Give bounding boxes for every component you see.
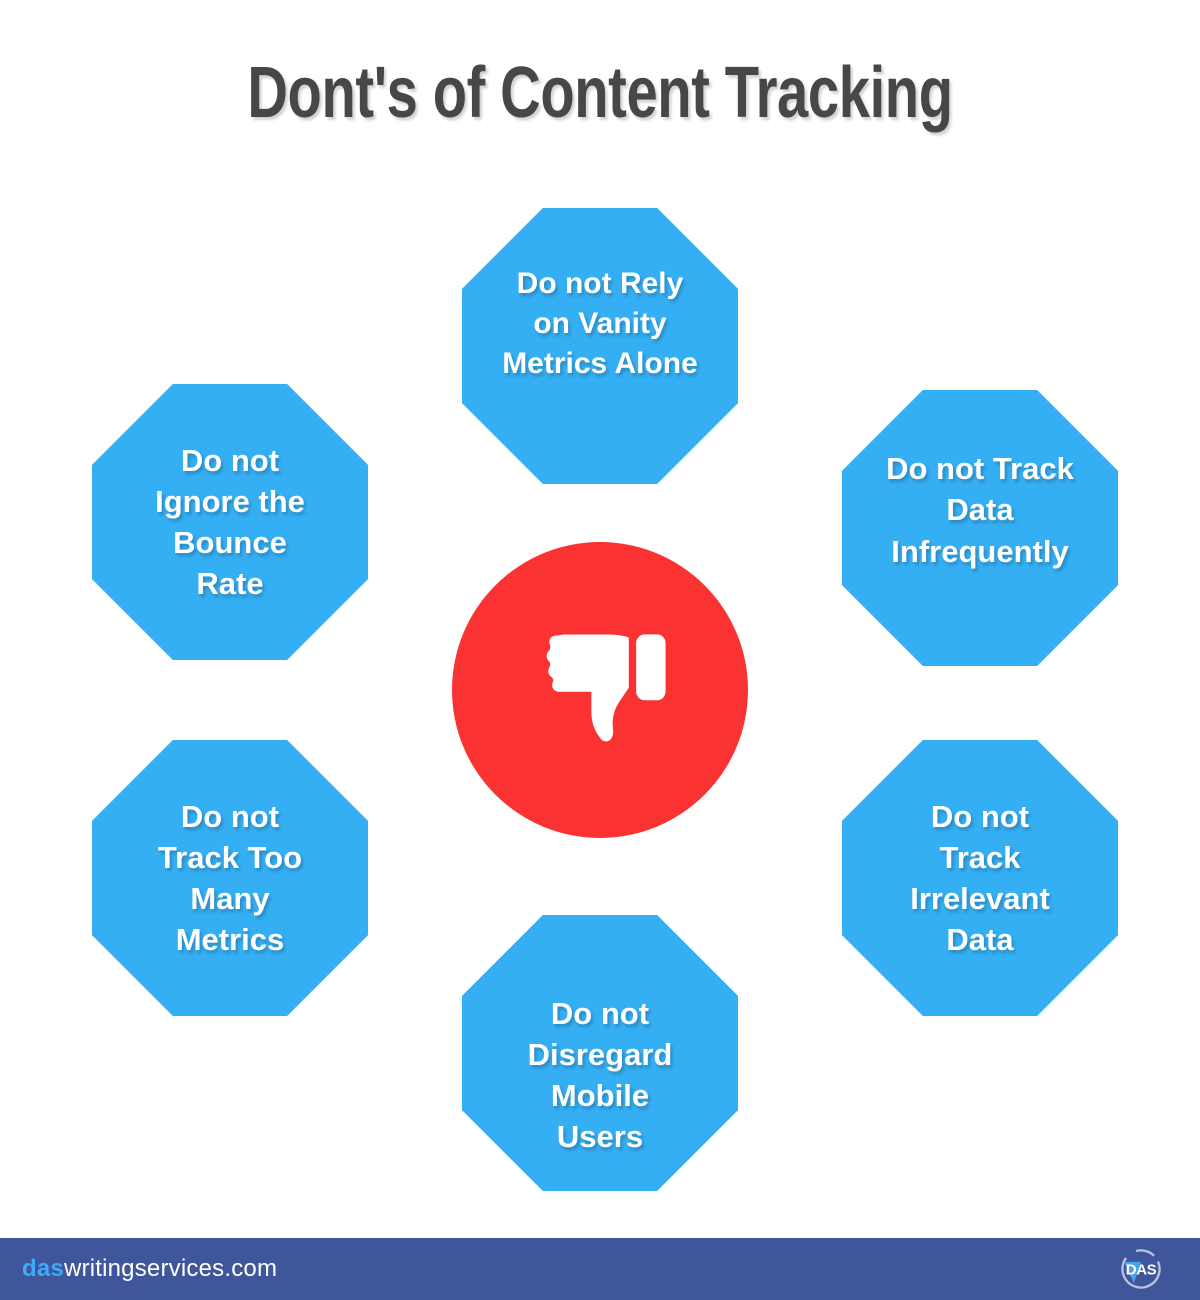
octagon-node-bottom[interactable]: Do not Disregard Mobile Users [462, 915, 738, 1191]
svg-text:DAS: DAS [1126, 1261, 1157, 1278]
page-title: Dont's of Content Tracking [132, 56, 1068, 132]
das-circle-logo-icon: DAS [1114, 1246, 1168, 1292]
octagon-node-right-bottom[interactable]: Do not Track Irrelevant Data [842, 740, 1118, 1016]
footer-brand-accent: das [22, 1255, 64, 1282]
footer-brand-rest: writingservices.com [64, 1255, 277, 1282]
octagon-label: Do not Disregard Mobile Users [485, 993, 715, 1158]
footer-bar: daswritingservices.com DAS [0, 1238, 1200, 1300]
octagon-label: Do not Ignore the Bounce Rate [115, 440, 345, 605]
octagon-node-right-top[interactable]: Do not Track Data Infrequently [842, 390, 1118, 666]
octagon-node-left-bottom[interactable]: Do not Track Too Many Metrics [92, 740, 368, 1016]
octagon-label: Do not Track Irrelevant Data [865, 796, 1095, 961]
octagon-label: Do not Track Data Infrequently [865, 448, 1095, 572]
octagon-label: Do not Rely on Vanity Metrics Alone [485, 264, 715, 384]
footer-website-text: daswritingservices.com [22, 1255, 277, 1283]
thumbs-down-icon [520, 610, 680, 770]
octagon-node-top[interactable]: Do not Rely on Vanity Metrics Alone [462, 208, 738, 484]
infographic-canvas: Dont's of Content Tracking Do not Rely o… [0, 0, 1200, 1300]
octagon-label: Do not Track Too Many Metrics [115, 796, 345, 961]
center-emblem [452, 542, 748, 838]
octagon-node-left-top[interactable]: Do not Ignore the Bounce Rate [92, 384, 368, 660]
